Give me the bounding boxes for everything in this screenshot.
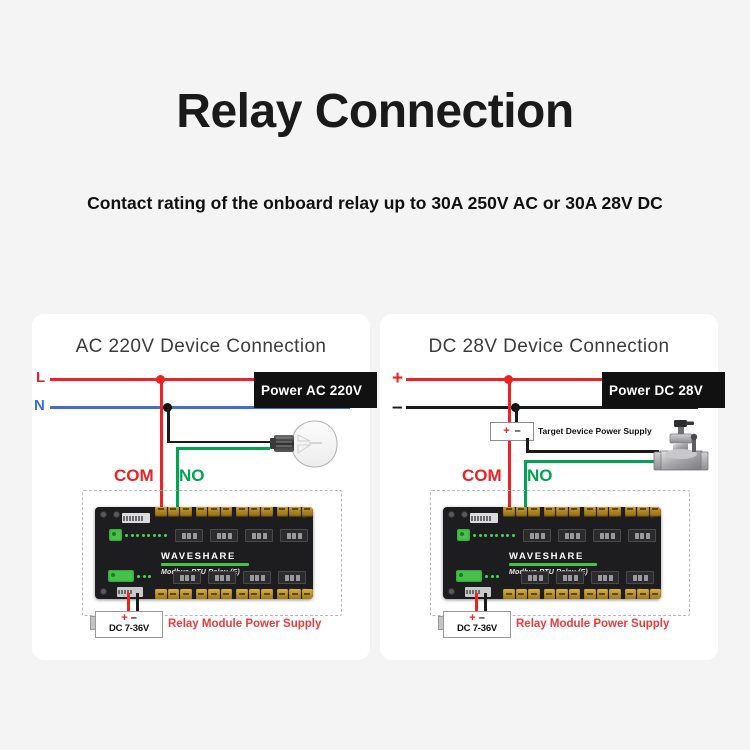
relay-board: WAVESHARE Modbus RTU Relay (E) <box>443 507 661 599</box>
target-supply-minus: – <box>515 426 521 437</box>
wire-no-to-valve <box>524 460 659 463</box>
power-tag-ac: Power AC 220V <box>254 372 377 408</box>
wire-no-to-bulb <box>176 447 270 450</box>
power-tag-dc: Power DC 28V <box>602 372 725 408</box>
rail-label-N: N <box>34 397 45 414</box>
wire-neutral-drop <box>167 406 170 443</box>
panel-dc-title: DC 28V Device Connection <box>380 336 718 358</box>
board-brand: WAVESHARE <box>509 551 584 562</box>
light-bulb-icon <box>262 418 342 475</box>
label-no: NO <box>179 466 205 486</box>
supply-voltage: DC 7-36V <box>444 624 510 634</box>
solenoid-valve-icon <box>652 418 710 485</box>
page-subtitle: Contact rating of the onboard relay up t… <box>0 193 750 214</box>
relay-power-supply-box: + – DC 7-36V <box>443 611 511 638</box>
panel-ac-220v: AC 220V Device Connection L N Power AC 2… <box>32 314 370 660</box>
page-title: Relay Connection <box>0 84 750 139</box>
relay-board: WAVESHARE Modbus RTU Relay (E) <box>95 507 313 599</box>
rail-label-minus: – <box>392 398 403 417</box>
relay-power-supply-box: + – DC 7-36V <box>95 611 163 638</box>
relay-power-supply-note: Relay Module Power Supply <box>168 618 321 630</box>
supply-voltage: DC 7-36V <box>96 624 162 634</box>
panel-dc-28v: DC 28V Device Connection + – Power DC 28… <box>380 314 718 660</box>
label-com: COM <box>114 466 154 486</box>
panel-ac-title: AC 220V Device Connection <box>32 336 370 358</box>
target-supply-plus: + <box>503 426 509 437</box>
relay-power-supply-note: Relay Module Power Supply <box>516 618 669 630</box>
board-brand: WAVESHARE <box>161 551 236 562</box>
label-com: COM <box>462 466 502 486</box>
label-no: NO <box>527 466 553 486</box>
rail-label-L: L <box>36 369 45 386</box>
page-root: Relay Connection Contact rating of the o… <box>0 0 750 750</box>
wire-neutral-to-bulb <box>167 441 270 444</box>
rail-label-plus: + <box>392 369 403 388</box>
wire-target-to-valve <box>526 450 659 453</box>
target-device-supply-label: Target Device Power Supply <box>538 426 652 436</box>
